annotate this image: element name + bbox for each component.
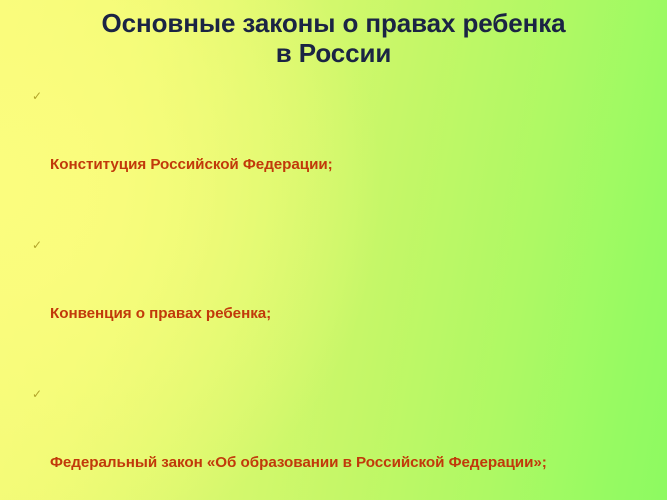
page-title: Основные законы о правах ребенка в Росси… (0, 8, 667, 68)
check-icon: ✓ (32, 234, 46, 256)
list-item: ✓ Конституция Российской Федерации; (26, 84, 642, 222)
check-icon: ✓ (32, 383, 46, 405)
list-item-label: Конституция Российской Федерации; (50, 153, 642, 176)
slide-canvas: Основные законы о правах ребенка в Росси… (0, 0, 667, 500)
list-item-label: Конвенция о правах ребенка; (50, 302, 642, 325)
law-list: ✓ Конституция Российской Федерации; ✓ Ко… (26, 84, 642, 500)
list-item: ✓ Конвенция о правах ребенка; (26, 233, 642, 371)
page-title-line-2: в России (28, 38, 639, 68)
page-title-line-1: Основные законы о правах ребенка (28, 8, 639, 38)
list-item: ✓ Федеральный закон «Об образовании в Ро… (26, 382, 642, 500)
check-icon: ✓ (32, 85, 46, 107)
list-item-label: Федеральный закон «Об образовании в Росс… (50, 451, 642, 474)
